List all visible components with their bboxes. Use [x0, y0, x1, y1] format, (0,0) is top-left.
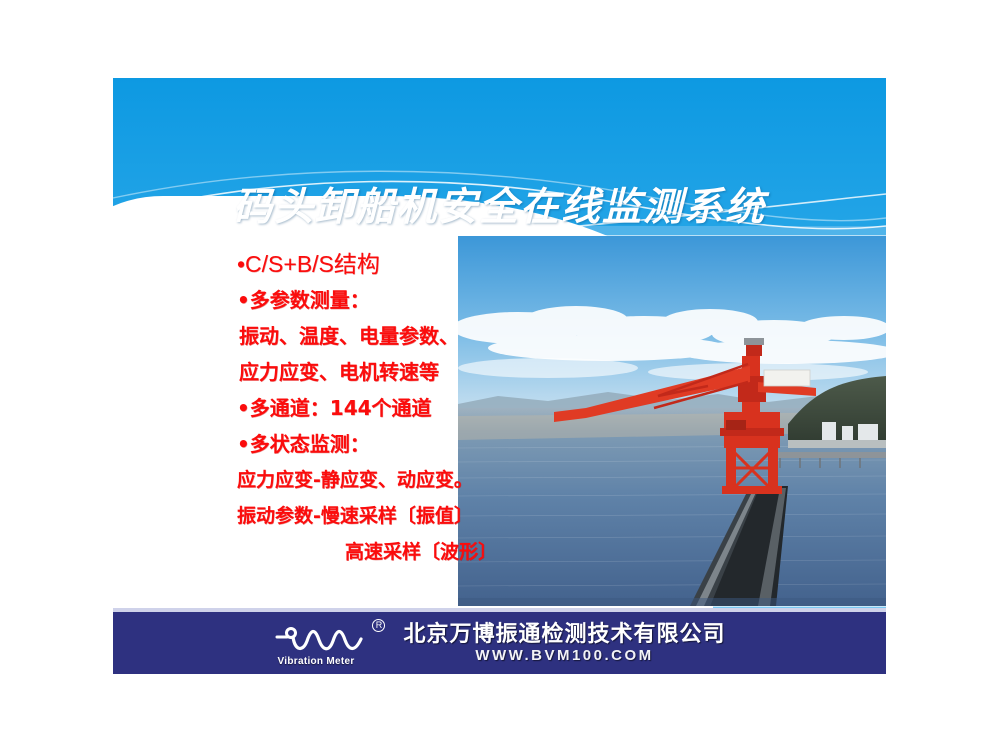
bullet-line-2: •多参数测量：: [237, 282, 587, 318]
slide-title: 码头卸船机安全在线监测系统: [113, 176, 886, 232]
bullet-line-9: 高速采样〔波形〕: [237, 534, 587, 570]
bullet-line-8: 振动参数-慢速采样〔振值〕: [237, 498, 587, 534]
bullet-line-3: 振动、温度、电量参数、: [237, 318, 587, 354]
bullet-line-4: 应力应变、电机转速等: [237, 354, 587, 390]
bullet-line-7: 应力应变-静应变、动应变。: [237, 462, 587, 498]
wave-logo-icon: [273, 621, 377, 655]
bullet-line-1: •C/S+B/S结构: [237, 246, 587, 282]
vibration-meter-logo: R Vibration Meter: [273, 619, 391, 667]
footer-bar: R Vibration Meter 北京万博振通检测技术有限公司 WWW.BVM…: [113, 612, 886, 674]
registered-trademark-icon: R: [372, 619, 385, 632]
bullet-list: •C/S+B/S结构 •多参数测量： 振动、温度、电量参数、 应力应变、电机转速…: [237, 246, 587, 570]
slide-body: 码头卸船机安全在线监测系统 •C/S+B/S结构 •多参数测量： 振动、温度、电…: [113, 78, 886, 608]
footer-text-block: 北京万博振通检测技术有限公司 WWW.BVM100.COM: [403, 623, 725, 664]
bullet-line-5: •多通道：144个通道: [237, 390, 587, 426]
logo-subtitle: Vibration Meter: [277, 656, 354, 667]
slide-page: 码头卸船机安全在线监测系统 •C/S+B/S结构 •多参数测量： 振动、温度、电…: [0, 0, 1000, 750]
company-name: 北京万博振通检测技术有限公司: [403, 623, 725, 646]
company-website: WWW.BVM100.COM: [475, 648, 653, 664]
bullet-line-6: •多状态监测：: [237, 426, 587, 462]
